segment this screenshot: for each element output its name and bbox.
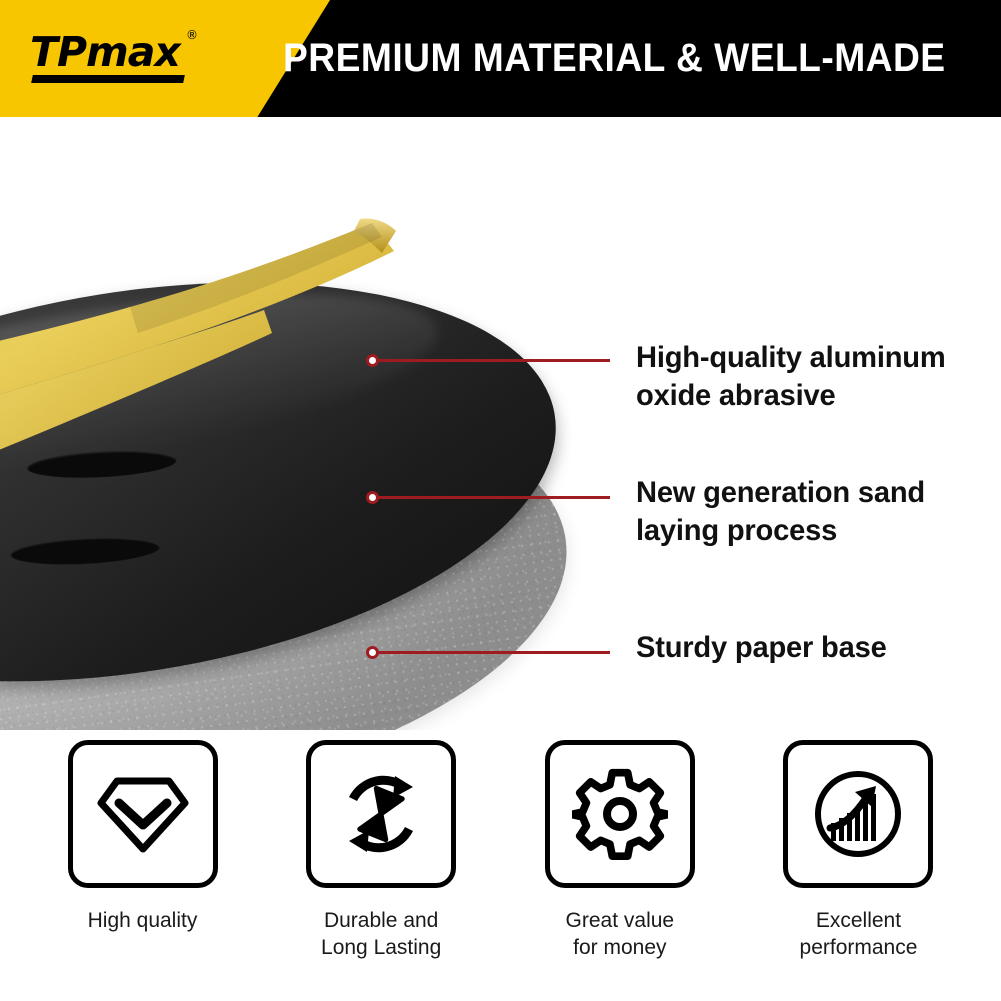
logo-underline — [31, 75, 185, 83]
feature-label: High quality — [88, 907, 198, 934]
feature-row: High quality Durabl — [0, 740, 1001, 980]
feature-icon-box — [306, 740, 456, 888]
callout-label-sand-laying: New generation sand laying process — [636, 474, 925, 550]
callout-label-paper-base: Sturdy paper base — [636, 629, 887, 667]
gear-icon — [572, 766, 668, 862]
infographic-page: TPmax ® PREMIUM MATERIAL & WELL-MADE — [0, 0, 1001, 1001]
page-title: PREMIUM MATERIAL & WELL-MADE — [283, 0, 946, 117]
feature-icon-box — [68, 740, 218, 888]
diamond-icon — [95, 771, 191, 857]
registered-trademark-icon: ® — [186, 29, 198, 41]
callout-leader-line — [375, 651, 610, 654]
abrasive-layer — [0, 127, 540, 557]
callout-dot-icon — [366, 646, 379, 659]
header-bar: TPmax ® PREMIUM MATERIAL & WELL-MADE — [0, 0, 1001, 117]
callout-leader-line — [375, 496, 610, 499]
callout-dot-icon — [366, 491, 379, 504]
abrasive-sheet-icon — [0, 127, 540, 557]
feature-label: Durable and Long Lasting — [321, 907, 441, 961]
feature-label: Great value for money — [566, 907, 675, 961]
feature-great-value: Great value for money — [517, 740, 722, 980]
feature-label: Excellent performance — [800, 907, 918, 961]
feature-excellent-performance: Excellent performance — [756, 740, 961, 980]
product-photo: High-quality aluminum oxide abrasive New… — [0, 117, 1001, 730]
feature-icon-box — [545, 740, 695, 888]
callout-label-abrasive: High-quality aluminum oxide abrasive — [636, 339, 946, 415]
feature-durable: Durable and Long Lasting — [279, 740, 484, 980]
feature-icon-box — [783, 740, 933, 888]
callout-dot-icon — [366, 354, 379, 367]
brand-logo: TPmax ® — [30, 30, 220, 92]
hourglass-cycle-icon — [333, 766, 429, 862]
logo-wordmark: TPmax — [30, 30, 180, 74]
growth-chart-icon — [810, 766, 906, 862]
feature-high-quality: High quality — [40, 740, 245, 980]
callout-leader-line — [375, 359, 610, 362]
